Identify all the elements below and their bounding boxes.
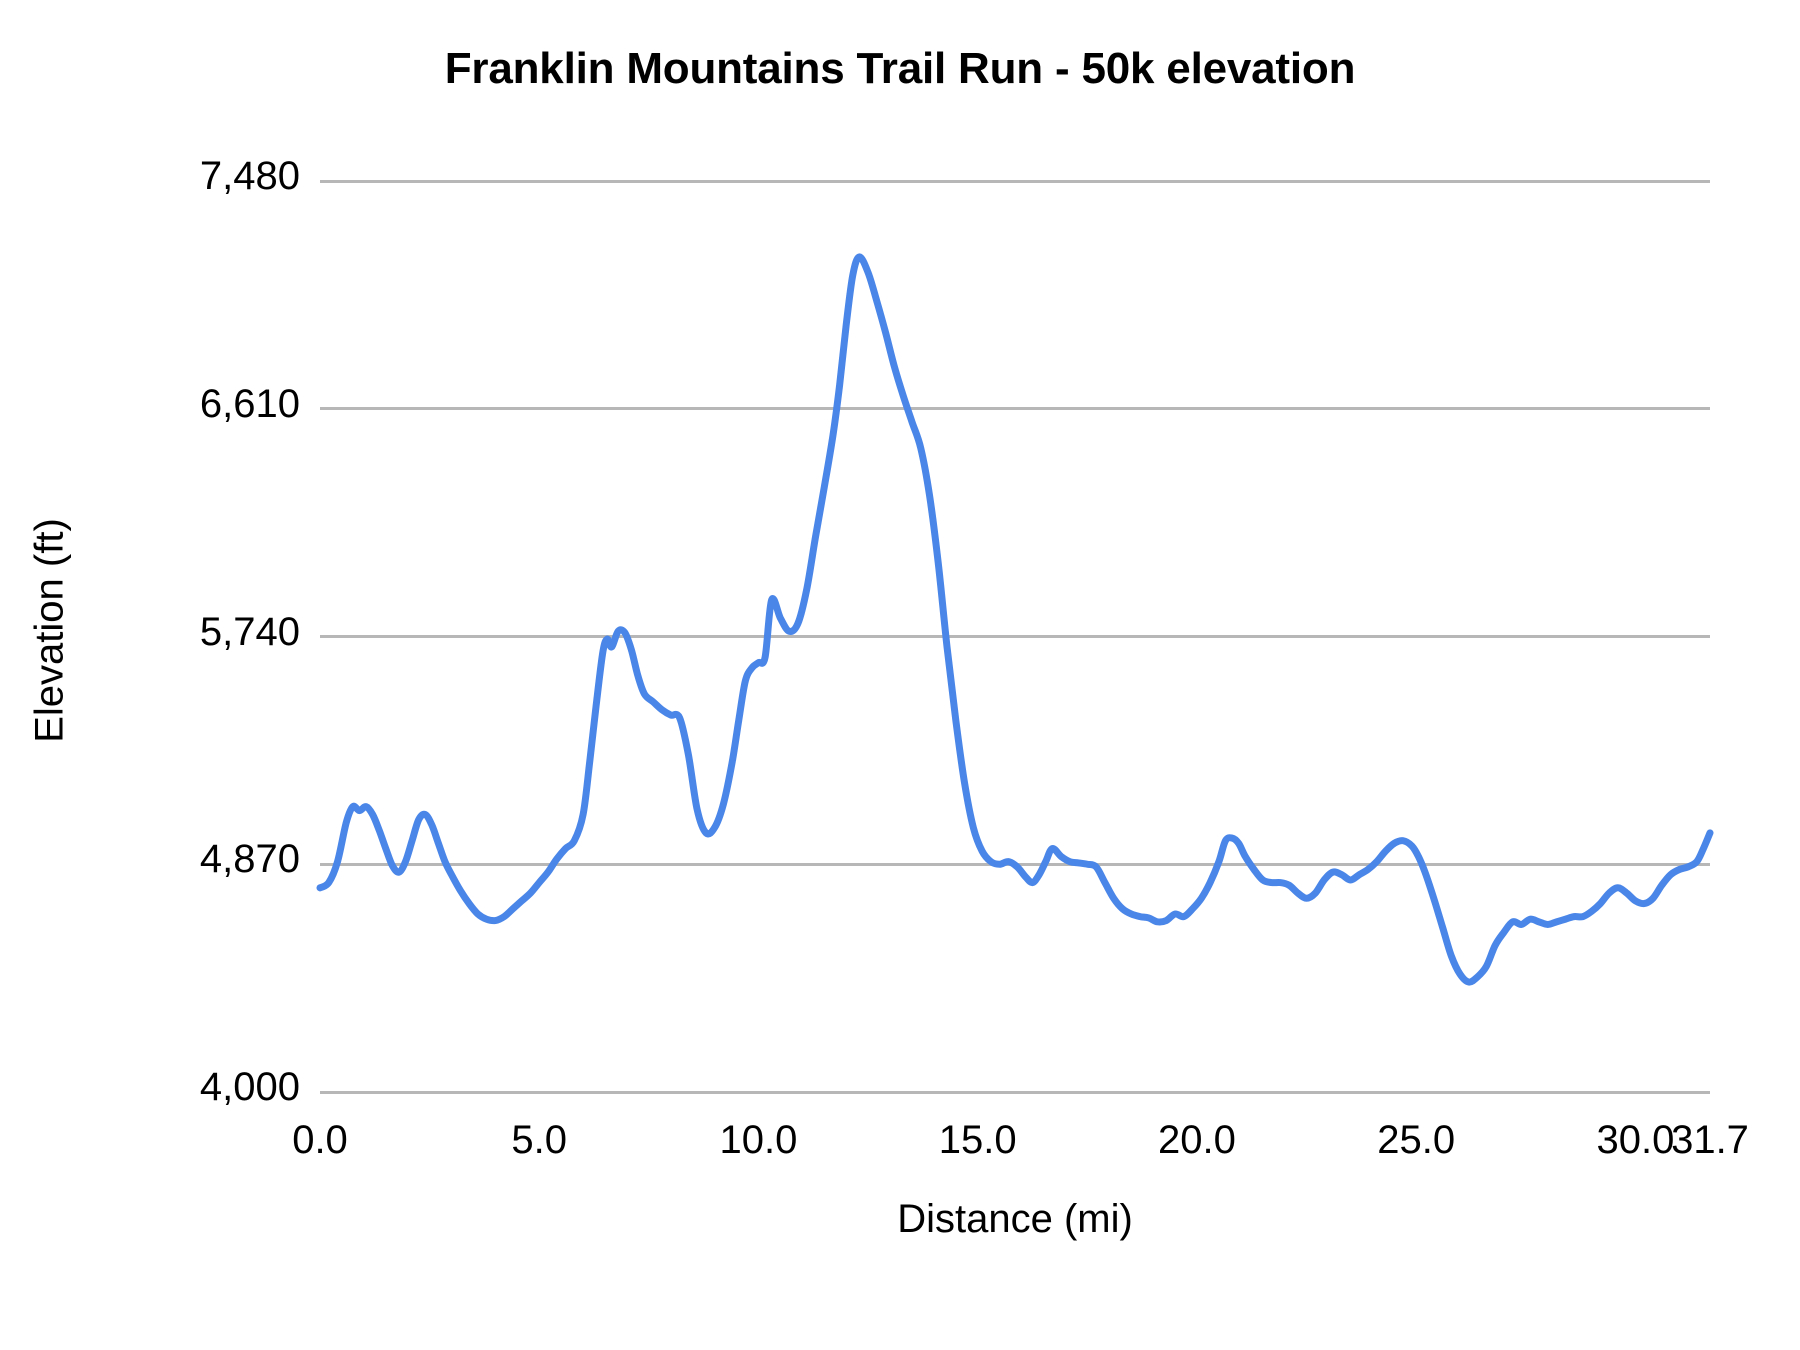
x-tick-label: 20.0: [1158, 1118, 1236, 1163]
x-tick-label: 5.0: [511, 1118, 567, 1163]
x-tick-label: 15.0: [939, 1118, 1017, 1163]
chart-container: Franklin Mountains Trail Run - 50k eleva…: [0, 0, 1800, 1350]
x-tick-label: 30.0: [1597, 1118, 1675, 1163]
x-tick-label: 10.0: [720, 1118, 798, 1163]
x-axis-title: Distance (mi): [320, 1197, 1710, 1242]
x-axis-tick-labels: 0.05.010.015.020.025.030.031.7: [0, 0, 1800, 1350]
x-tick-label: 25.0: [1377, 1118, 1455, 1163]
x-tick-label: 0.0: [292, 1118, 348, 1163]
x-tick-label: 31.7: [1671, 1118, 1749, 1163]
y-axis-title: Elevation (ft): [28, 481, 73, 781]
